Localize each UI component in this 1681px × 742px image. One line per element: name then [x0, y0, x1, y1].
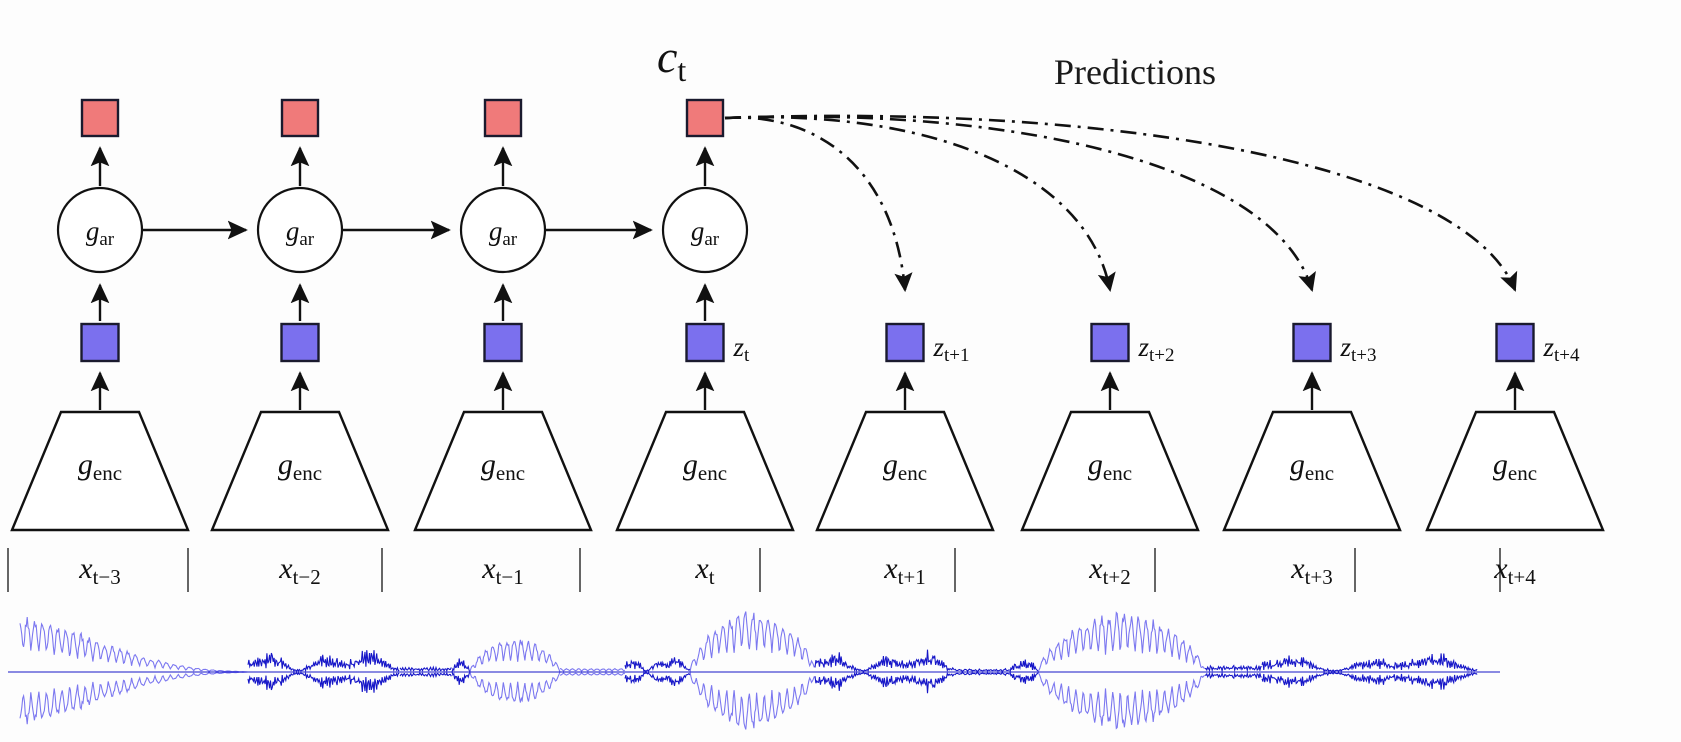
timestep-separator-layer: [8, 548, 1500, 592]
input-label: xt+2: [1088, 552, 1131, 589]
prediction-curve: [725, 117, 1312, 290]
autoregressive-layer: gargargargar: [58, 188, 747, 321]
waveform-segment: [955, 669, 1010, 672]
input-label: xt+4: [1493, 552, 1536, 589]
waveform-segment: [690, 672, 814, 729]
waveform-segment: [815, 650, 955, 672]
latent-square[interactable]: [82, 324, 119, 361]
waveform-segment: [1038, 613, 1205, 672]
waveform-segment: [955, 673, 1010, 675]
waveform-segment: [815, 673, 955, 694]
latent-square[interactable]: [282, 324, 319, 361]
waveform-segment: [400, 673, 451, 677]
latent-square[interactable]: [1092, 324, 1129, 361]
diagram-canvas: gencgencgencgencgencgencgencgenc gargarg…: [0, 0, 1681, 742]
input-label: xt−1: [481, 552, 524, 589]
input-label: xt: [694, 552, 714, 589]
predictions-label: Predictions: [1054, 52, 1216, 92]
context-title-label: ct: [657, 31, 686, 88]
latent-label: zt+2: [1138, 332, 1175, 366]
latent-label: zt+1: [933, 332, 970, 366]
waveform-segment: [690, 612, 814, 672]
context-square[interactable]: [82, 100, 118, 136]
prediction-curve-layer: [725, 116, 1515, 290]
latent-square[interactable]: [485, 324, 522, 361]
input-label: xt−2: [278, 552, 321, 589]
context-square[interactable]: [282, 100, 318, 136]
prediction-curve: [725, 118, 905, 290]
waveform-segment: [1262, 653, 1477, 671]
waveform-segment: [452, 659, 470, 673]
cpc-architecture-figure: gencgencgencgencgencgencgencgenc gargarg…: [0, 0, 1681, 742]
waveform-segment: [1010, 660, 1038, 672]
latent-label: zt+3: [1340, 332, 1377, 366]
latent-square[interactable]: [687, 324, 724, 361]
waveform-segment: [1262, 673, 1477, 690]
waveform-segment: [400, 667, 451, 671]
waveform-segment: [20, 617, 248, 672]
waveform-segment: [625, 673, 690, 686]
waveform-segment: [470, 672, 560, 703]
input-label: xt−3: [78, 552, 121, 589]
waveform-segment: [1205, 666, 1262, 671]
latent-label: zt+4: [1543, 332, 1581, 366]
input-label: xt+3: [1290, 552, 1333, 589]
latent-layer: [82, 324, 1534, 410]
context-square[interactable]: [485, 100, 521, 136]
waveform-segment: [20, 672, 248, 724]
encoder-layer: gencgencgencgencgencgencgencgenc: [12, 412, 1603, 530]
latent-square[interactable]: [887, 324, 924, 361]
latent-square[interactable]: [1294, 324, 1331, 361]
prediction-curve: [725, 117, 1110, 290]
waveform-segment: [1010, 672, 1038, 684]
waveform-segment: [560, 669, 625, 671]
latent-label: zt: [733, 332, 751, 366]
waveform-segment: [560, 673, 625, 675]
latent-square[interactable]: [1497, 324, 1534, 361]
waveform-segment: [248, 673, 399, 693]
waveform-segment: [1205, 673, 1262, 678]
waveform-segment: [1038, 672, 1205, 728]
waveform-segment: [470, 640, 560, 672]
waveform-segment: [625, 657, 690, 671]
context-square[interactable]: [687, 100, 723, 136]
waveform-segment: [248, 650, 399, 671]
waveform-layer: [8, 612, 1500, 730]
input-label: xt+1: [883, 552, 926, 589]
waveform-segment: [452, 672, 470, 685]
context-layer: [82, 100, 723, 186]
prediction-curve: [725, 116, 1515, 290]
